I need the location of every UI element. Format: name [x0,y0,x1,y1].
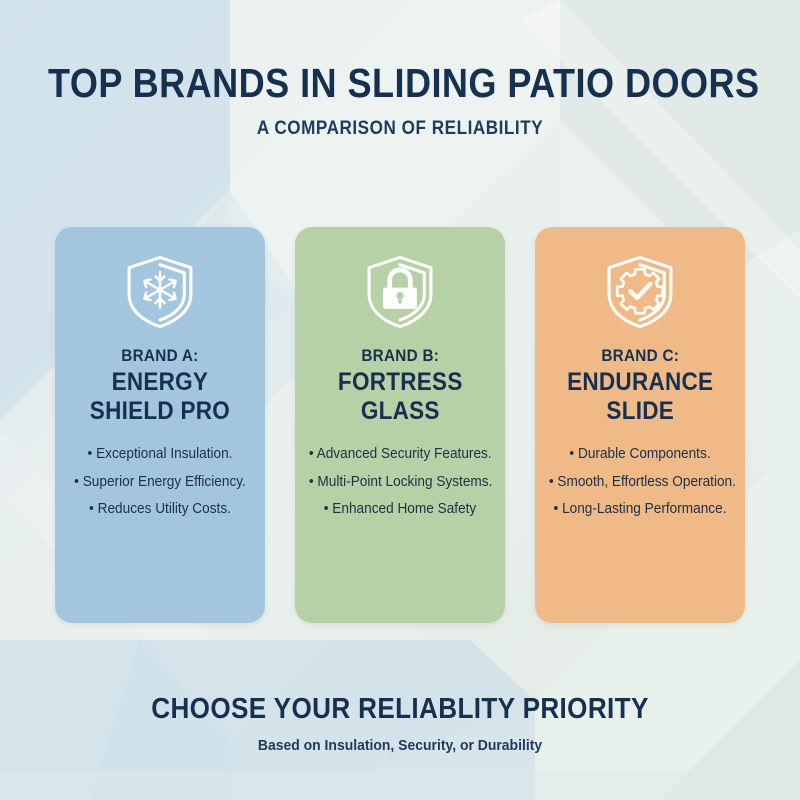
brand-label: BRAND C: [601,345,679,366]
footer-subtitle: Based on Insulation, Security, or Durabi… [28,737,772,754]
brand-card-a[interactable]: BRAND A: ENERGY SHIELD PRO • Exceptional… [55,227,265,623]
page-subtitle: A COMPARISON OF RELIABILITY [40,118,760,140]
snowflake-shield-icon [123,253,197,331]
list-item: • Superior Energy Efficiency. [69,475,251,490]
list-item: • Enhanced Home Safety [309,502,491,517]
feature-list: • Advanced Security Features. • Multi-Po… [303,447,497,530]
brand-label: BRAND A: [121,345,198,366]
list-item: • Smooth, Effortless Operation. [549,475,731,490]
footer: CHOOSE YOUR RELIABLITY PRIORITY Based on… [0,693,800,754]
header: TOP BRANDS IN SLIDING PATIO DOORS A COMP… [0,62,800,140]
list-item: • Multi-Point Locking Systems. [309,475,491,490]
brand-label: BRAND B: [361,345,439,366]
padlock-shield-icon [363,253,437,331]
page-title: TOP BRANDS IN SLIDING PATIO DOORS [48,62,752,105]
list-item: • Reduces Utility Costs. [69,502,251,517]
list-item: • Durable Components. [549,447,731,462]
brand-card-c[interactable]: BRAND C: ENDURANCE SLIDE • Durable Compo… [535,227,745,623]
brand-name: FORTRESS GLASS [338,368,463,425]
feature-list: • Exceptional Insulation. • Superior Ene… [63,447,257,530]
gear-check-shield-icon [603,253,677,331]
brand-name: ENERGY SHIELD PRO [90,368,230,425]
infographic-canvas: TOP BRANDS IN SLIDING PATIO DOORS A COMP… [0,0,800,800]
brand-name: ENDURANCE SLIDE [567,368,713,425]
list-item: • Advanced Security Features. [309,447,491,462]
list-item: • Long-Lasting Performance. [549,502,731,517]
brand-card-list: BRAND A: ENERGY SHIELD PRO • Exceptional… [55,227,745,623]
feature-list: • Durable Components. • Smooth, Effortle… [543,447,737,530]
footer-title: CHOOSE YOUR RELIABLITY PRIORITY [40,693,760,726]
list-item: • Exceptional Insulation. [69,447,251,462]
brand-card-b[interactable]: BRAND B: FORTRESS GLASS • Advanced Secur… [295,227,505,623]
